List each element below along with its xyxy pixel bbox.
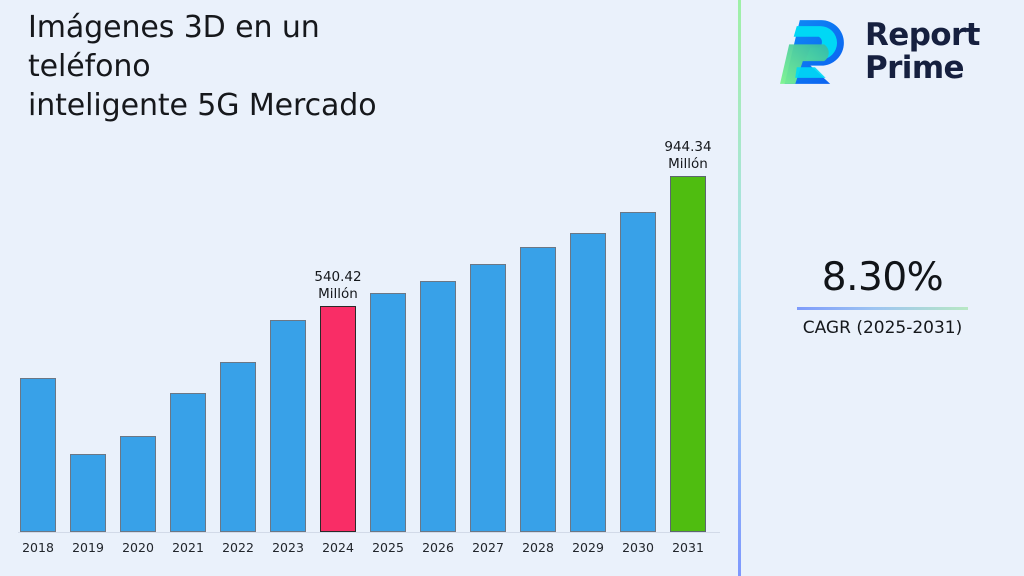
bar-chart-plot: 2018201920202021202220232024540.42 Milló… [0, 0, 738, 576]
x-tick-label-2021: 2021 [170, 540, 206, 555]
bar-2026[interactable] [420, 281, 456, 532]
x-tick-label-2019: 2019 [70, 540, 106, 555]
x-tick-label-2029: 2029 [570, 540, 606, 555]
bar-2028[interactable] [520, 247, 556, 532]
x-tick-label-2018: 2018 [20, 540, 56, 555]
brand-panel: Report Prime 8.30% CAGR (2025-2031) [741, 0, 1024, 576]
bar-2024[interactable] [320, 306, 356, 532]
chart-infographic: Imágenes 3D en un teléfono inteligente 5… [0, 0, 1024, 576]
bar-2023[interactable] [270, 320, 306, 532]
cagr-block: 8.30% CAGR (2025-2031) [741, 255, 1024, 339]
cagr-caption: CAGR (2025-2031) [741, 317, 1024, 339]
brand-name: Report Prime [865, 19, 980, 85]
bar-2029[interactable] [570, 233, 606, 532]
report-prime-logo-icon [777, 14, 853, 90]
x-tick-label-2027: 2027 [470, 540, 506, 555]
x-axis-line [18, 532, 720, 533]
x-tick-label-2024: 2024 [320, 540, 356, 555]
bar-2018[interactable] [20, 378, 56, 532]
brand-logo[interactable]: Report Prime [777, 14, 980, 90]
x-tick-label-2023: 2023 [270, 540, 306, 555]
cagr-divider-rule [797, 307, 968, 310]
bar-2027[interactable] [470, 264, 506, 532]
chart-panel: Imágenes 3D en un teléfono inteligente 5… [0, 0, 738, 576]
x-tick-label-2020: 2020 [120, 540, 156, 555]
bar-2019[interactable] [70, 454, 106, 532]
bar-2020[interactable] [120, 436, 156, 532]
bar-2025[interactable] [370, 293, 406, 532]
x-tick-label-2026: 2026 [420, 540, 456, 555]
x-tick-label-2022: 2022 [220, 540, 256, 555]
x-tick-label-2025: 2025 [370, 540, 406, 555]
bar-value-label-2031: 944.34 Millón [638, 139, 738, 172]
bar-2021[interactable] [170, 393, 206, 532]
bar-2031[interactable] [670, 176, 706, 532]
x-tick-label-2031: 2031 [670, 540, 706, 555]
x-tick-label-2028: 2028 [520, 540, 556, 555]
x-tick-label-2030: 2030 [620, 540, 656, 555]
bar-2030[interactable] [620, 212, 656, 532]
bar-2022[interactable] [220, 362, 256, 532]
cagr-value: 8.30% [741, 255, 1024, 301]
